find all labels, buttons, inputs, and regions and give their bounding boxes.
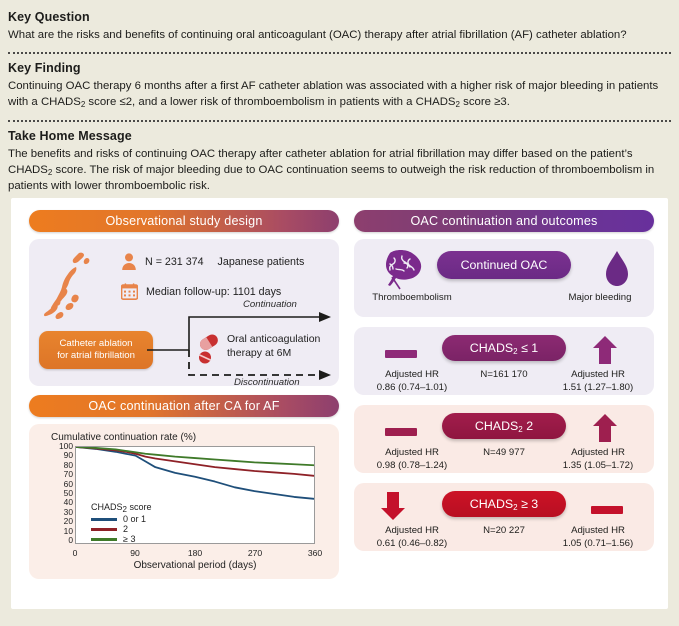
- left-hr-value-3: 0.61 (0.46–0.82): [358, 538, 466, 551]
- continuation-label: Continuation: [243, 299, 297, 310]
- take-home-title: Take Home Message: [8, 129, 671, 143]
- divider-1: [8, 52, 671, 54]
- left-hr-value-1: 0.86 (0.74–1.01): [358, 382, 466, 395]
- key-question-title: Key Question: [8, 10, 671, 24]
- patients-count-row: N = 231 374 Japanese patients: [121, 253, 304, 271]
- neutral-marker-icon: [590, 497, 624, 523]
- patients-count-value: N = 231 374: [145, 256, 204, 268]
- right-hr-label-1: Adjusted HR 1.51 (1.27–1.80): [544, 369, 652, 395]
- outcome-row-chads-ge3: CHADS2 ≥ 3 Adjusted HR 0.61 (0.46–0.82) …: [354, 483, 654, 551]
- left-hr-label-3: Adjusted HR 0.61 (0.46–0.82): [358, 525, 466, 551]
- ablation-line-1: Catheter ablation: [59, 338, 132, 350]
- person-icon: [121, 253, 137, 271]
- chart-y-axis: 100 90 80 70 60 50 40 30 20 10 0: [43, 442, 73, 548]
- group-pill-chads-le1: CHADS2 ≤ 1: [442, 335, 566, 361]
- legend-label-0: 0 or 1: [123, 514, 146, 524]
- up-arrow-icon: [592, 413, 618, 443]
- key-finding-line3: score ≥3.: [460, 96, 510, 108]
- legend-title: CHADS2 score: [91, 502, 151, 512]
- brain-icon: [376, 249, 428, 291]
- group-label-chads-2: CHADS2 2: [475, 419, 533, 433]
- x-tick-0: 0: [73, 548, 78, 558]
- take-home-line3: lower thromboembolic risk.: [75, 180, 210, 192]
- right-hr-value-2: 1.35 (1.05–1.72): [544, 460, 652, 473]
- x-tick-270: 270: [248, 548, 262, 558]
- blood-drop-icon: [604, 249, 630, 291]
- left-hr-text-3: Adjusted HR: [358, 525, 466, 538]
- up-arrow-icon: [592, 335, 618, 365]
- key-finding-line2: score ≤2, and a lower risk of thromboemb…: [85, 96, 455, 108]
- oac-line-2: therapy at 6M: [227, 347, 320, 361]
- legend-swatch-1: [91, 528, 117, 531]
- legend-swatch-0: [91, 518, 117, 521]
- key-finding-body: Continuing OAC therapy 6 months after a …: [8, 78, 671, 110]
- oac-line-1: Oral anticoagulation: [227, 333, 320, 347]
- continued-oac-label: Continued OAC: [461, 258, 548, 272]
- oac-therapy-label: Oral anticoagulation therapy at 6M: [227, 333, 320, 360]
- legend-item-0: 0 or 1: [91, 514, 151, 524]
- key-finding-sub-1: 2: [81, 100, 85, 109]
- right-hr-text-3: Adjusted HR: [544, 525, 652, 538]
- right-hr-text-2: Adjusted HR: [544, 447, 652, 460]
- n-value-3: N=20 227: [483, 525, 525, 536]
- left-column: Observational study design: [29, 210, 339, 579]
- chart-series-2: [76, 447, 314, 465]
- section-take-home-message: Take Home Message The benefits and risks…: [8, 125, 671, 199]
- key-finding-title: Key Finding: [8, 61, 671, 75]
- right-hr-text-1: Adjusted HR: [544, 369, 652, 382]
- right-column: OAC continuation and outcomes: [354, 210, 654, 551]
- figure-card: Observational study design: [11, 198, 668, 609]
- calendar-icon: [121, 283, 138, 300]
- group-label-chads-le1: CHADS2 ≤ 1: [470, 341, 538, 355]
- neutral-marker-icon: [384, 419, 418, 445]
- right-hr-label-3: Adjusted HR 1.05 (0.71–1.56): [544, 525, 652, 551]
- left-hr-value-2: 0.98 (0.78–1.24): [358, 460, 466, 473]
- banner-oac-outcomes: OAC continuation and outcomes: [354, 210, 654, 232]
- left-hr-text-2: Adjusted HR: [358, 447, 466, 460]
- neutral-marker-icon: [384, 341, 418, 367]
- x-tick-360: 360: [308, 548, 322, 558]
- section-key-question: Key Question What are the risks and bene…: [8, 6, 671, 47]
- outcome-row-chads-le1: CHADS2 ≤ 1 Adjusted HR 0.86 (0.74–1.01) …: [354, 327, 654, 395]
- group-pill-chads-ge3: CHADS2 ≥ 3: [442, 491, 566, 517]
- left-hr-text-1: Adjusted HR: [358, 369, 466, 382]
- infographic-page: Key Question What are the risks and bene…: [0, 0, 679, 626]
- right-hr-value-3: 1.05 (0.71–1.56): [544, 538, 652, 551]
- group-label-chads-ge3: CHADS2 ≥ 3: [470, 497, 538, 511]
- left-hr-label-2: Adjusted HR 0.98 (0.78–1.24): [358, 447, 466, 473]
- n-value-2: N=49 977: [483, 447, 525, 458]
- catheter-ablation-node: Catheter ablation for atrial fibrillatio…: [39, 331, 153, 369]
- medication-pill-icon: [197, 334, 223, 364]
- x-tick-180: 180: [188, 548, 202, 558]
- take-home-body: The benefits and risks of continuing OAC…: [8, 146, 671, 195]
- take-home-sub: 2: [48, 168, 52, 177]
- section-key-finding: Key Finding Continuing OAC therapy 6 mon…: [8, 57, 671, 114]
- down-arrow-icon: [380, 491, 406, 521]
- ablation-line-2: for atrial fibrillation: [57, 350, 135, 362]
- discontinuation-label: Discontinuation: [234, 377, 300, 388]
- study-design-panel: N = 231 374 Japanese patients: [29, 239, 339, 386]
- key-finding-sub-2: 2: [456, 100, 460, 109]
- chart-x-axis-label: Observational period (days): [75, 560, 315, 571]
- key-finding-chads-1: CHADS: [41, 96, 81, 108]
- n-value-1: N=161 170: [480, 369, 527, 380]
- thromboembolism-label: Thromboembolism: [364, 292, 460, 305]
- right-hr-label-2: Adjusted HR 1.35 (1.05–1.72): [544, 447, 652, 473]
- divider-2: [8, 120, 671, 122]
- outcomes-header-panel: Continued OAC Thromboembolism Major blee…: [354, 239, 654, 317]
- continued-oac-pill: Continued OAC: [437, 251, 571, 279]
- summary-text-block: Key Question What are the risks and bene…: [0, 0, 679, 198]
- group-pill-chads-2: CHADS2 2: [442, 413, 566, 439]
- banner-oac-continuation-chart: OAC continuation after CA for AF: [29, 395, 339, 417]
- right-hr-value-1: 1.51 (1.27–1.80): [544, 382, 652, 395]
- followup-value: Median follow-up: 1101 days: [146, 286, 281, 298]
- left-hr-label-1: Adjusted HR 0.86 (0.74–1.01): [358, 369, 466, 395]
- legend-label-1: 2: [123, 524, 128, 534]
- legend-swatch-2: [91, 538, 117, 541]
- legend-item-1: 2: [91, 524, 151, 534]
- key-question-body: What are the risks and benefits of conti…: [8, 27, 671, 43]
- japan-map-icon: [43, 251, 101, 325]
- continuation-chart-panel: Cumulative continuation rate (%) 100 90 …: [29, 424, 339, 579]
- patients-count-suffix: Japanese patients: [218, 256, 305, 268]
- x-tick-90: 90: [130, 548, 140, 558]
- outcome-row-chads-2: CHADS2 2 Adjusted HR 0.98 (0.78–1.24) N=…: [354, 405, 654, 473]
- major-bleeding-label: Major bleeding: [554, 292, 646, 305]
- legend-item-2: ≥ 3: [91, 534, 151, 544]
- banner-observational-study-design: Observational study design: [29, 210, 339, 232]
- legend-label-2: ≥ 3: [123, 534, 135, 544]
- y-tick-0: 0: [68, 535, 73, 545]
- chart-legend: CHADS2 score 0 or 1 2 ≥ 3: [91, 502, 151, 544]
